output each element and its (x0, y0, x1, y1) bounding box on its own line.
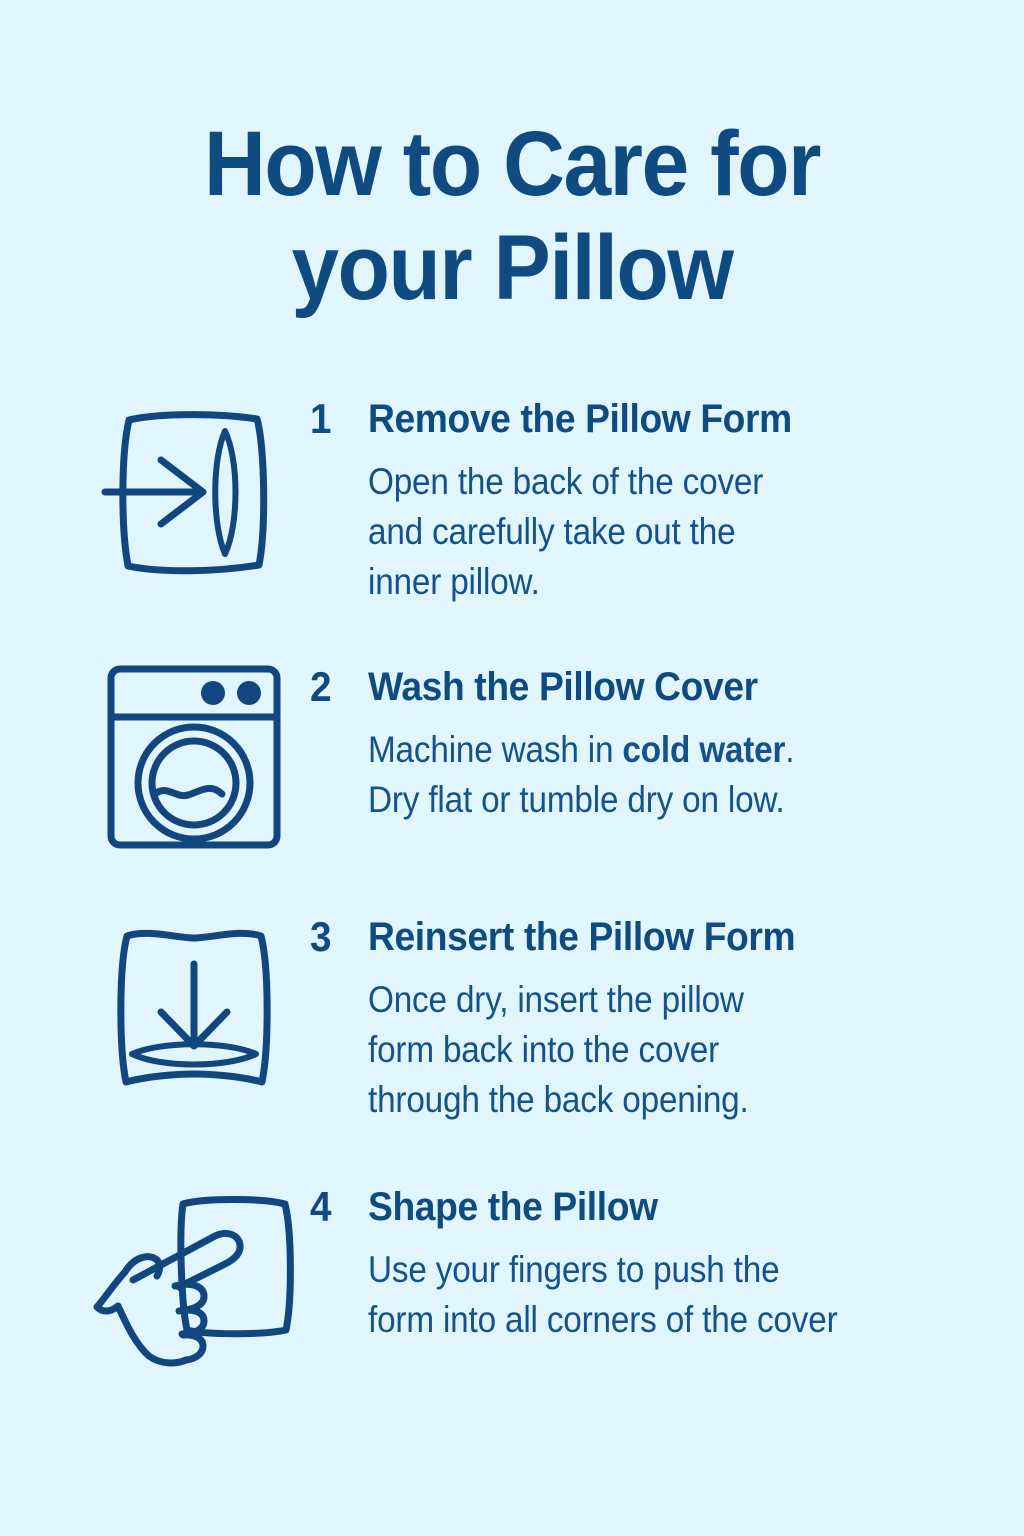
step-2-number: 2 (310, 662, 363, 712)
step-1-title: Remove the Pillow Form (368, 394, 978, 444)
step-item-4: 4 Shape the Pillow Use your fingers to p… (0, 1180, 1024, 1430)
pillow-with-down-arrow-icon (99, 920, 289, 1100)
step-3-desc-line-3: through the back opening. (368, 1075, 944, 1125)
step-3-desc-line-2: form back into the cover (368, 1025, 944, 1075)
step-4-desc-line-2: form into all corners of the cover (368, 1295, 944, 1345)
washing-machine-icon (106, 664, 282, 850)
step-4-number: 4 (310, 1182, 363, 1232)
step-2-desc-line-1: Machine wash in cold water. (368, 725, 944, 775)
step-4-title: Shape the Pillow (368, 1182, 978, 1232)
step-4-description: Use your fingers to push the form into a… (368, 1245, 944, 1345)
step-1-desc-line-2: and carefully take out the (368, 507, 944, 557)
step-1-text-cell: 1 Remove the Pillow Form Open the back o… (310, 392, 1024, 607)
step-3-number: 3 (310, 912, 363, 962)
step-1-desc-line-3: inner pillow. (368, 557, 944, 607)
pillow-with-insert-arrow-icon (99, 402, 289, 587)
step-2-description: Machine wash in cold water. Dry flat or … (368, 725, 944, 825)
step-1-desc-line-1: Open the back of the cover (368, 457, 944, 507)
step-2-desc-line-2: Dry flat or tumble dry on low. (368, 775, 944, 825)
step-4-desc-line-1: Use your fingers to push the (368, 1245, 944, 1295)
step-3-desc-line-1: Once dry, insert the pillow (368, 975, 944, 1025)
step-item-2: 2 Wash the Pillow Cover Machine wash in … (0, 660, 1024, 910)
page-title: How to Care for your Pillow (0, 112, 1024, 320)
step-4-text-cell: 4 Shape the Pillow Use your fingers to p… (310, 1180, 1024, 1345)
step-3-title: Reinsert the Pillow Form (368, 912, 978, 962)
infographic-page: How to Care for your Pillow 1 Remove the… (0, 0, 1024, 1536)
step-1-icon-cell (78, 392, 310, 587)
step-1-description: Open the back of the cover and carefully… (368, 457, 944, 607)
step-3-icon-cell (78, 910, 310, 1100)
page-title-line-2: your Pillow (120, 216, 905, 320)
step-item-1: 1 Remove the Pillow Form Open the back o… (0, 392, 1024, 660)
step-2-desc-pre: Machine wash in (368, 729, 622, 770)
step-2-icon-cell (78, 660, 310, 850)
step-item-3: 3 Reinsert the Pillow Form Once dry, ins… (0, 910, 1024, 1180)
step-2-text-cell: 2 Wash the Pillow Cover Machine wash in … (310, 660, 1024, 825)
step-2-desc-post: . (785, 729, 794, 770)
steps-list: 1 Remove the Pillow Form Open the back o… (0, 392, 1024, 1430)
step-3-description: Once dry, insert the pillow form back in… (368, 975, 944, 1125)
page-title-line-1: How to Care for (120, 112, 905, 216)
step-2-title: Wash the Pillow Cover (368, 662, 978, 712)
step-3-text-cell: 3 Reinsert the Pillow Form Once dry, ins… (310, 910, 1024, 1125)
step-4-icon-cell (78, 1180, 310, 1364)
hand-shaping-pillow-icon (87, 1194, 302, 1364)
step-1-number: 1 (310, 394, 363, 444)
step-2-desc-emphasis: cold water (622, 729, 785, 770)
